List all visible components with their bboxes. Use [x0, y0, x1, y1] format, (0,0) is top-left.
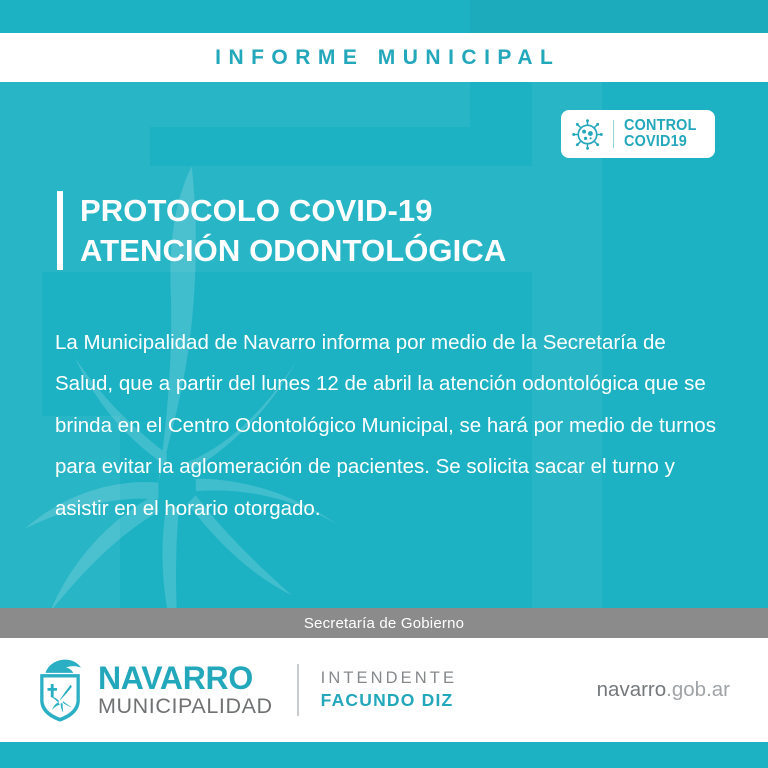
municipality-logo: NAVARRO MUNICIPALIDAD INTENDENTE FACUNDO…: [33, 657, 457, 723]
mayor-block: INTENDENTE FACUNDO DIZ: [321, 670, 457, 710]
bottom-accent-strip: [0, 742, 768, 768]
page-title: INFORME MUNICIPAL: [208, 46, 561, 70]
secretariat-label: Secretaría de Gobierno: [304, 615, 464, 632]
headline-accent-bar: [57, 191, 63, 270]
badge-text: CONTROL COVID19: [624, 118, 702, 150]
badge-line-covid19: COVID19: [624, 134, 697, 150]
badge-divider: [613, 120, 614, 148]
control-covid-badge: CONTROL COVID19: [561, 110, 715, 158]
coronavirus-icon: [572, 119, 603, 150]
brand-subtitle: MUNICIPALIDAD: [98, 696, 273, 718]
bg-block-top-right: [470, 0, 768, 33]
website-url[interactable]: navarro.gob.ar: [597, 678, 730, 702]
mayor-role-label: INTENDENTE: [321, 670, 457, 688]
headline-block: PROTOCOLO COVID-19 ATENCIÓN ODONTOLÓGICA: [57, 191, 506, 270]
navarro-coat-of-arms-icon: [33, 657, 87, 723]
bg-block-upper-mid: [150, 82, 470, 127]
brand-name: NAVARRO: [98, 662, 273, 694]
headline-line-1: PROTOCOLO COVID-19: [80, 191, 506, 231]
mayor-name-label: FACUNDO DIZ: [321, 691, 457, 710]
municipality-wordmark: NAVARRO MUNICIPALIDAD: [98, 662, 273, 718]
header-band: INFORME MUNICIPAL: [0, 33, 768, 82]
poster-canvas: INFORME MUNICIPAL: [0, 0, 768, 768]
secretariat-band: Secretaría de Gobierno: [0, 608, 768, 638]
footer-bar: NAVARRO MUNICIPALIDAD INTENDENTE FACUNDO…: [0, 638, 768, 742]
headline-line-2: ATENCIÓN ODONTOLÓGICA: [80, 231, 506, 271]
headline-text: PROTOCOLO COVID-19 ATENCIÓN ODONTOLÓGICA: [80, 191, 506, 270]
website-domain: navarro: [597, 678, 667, 701]
logo-divider: [297, 664, 299, 716]
body-paragraph: La Municipalidad de Navarro informa por …: [55, 322, 727, 529]
badge-line-control: CONTROL: [624, 118, 697, 134]
website-tld: .gob.ar: [666, 678, 730, 701]
